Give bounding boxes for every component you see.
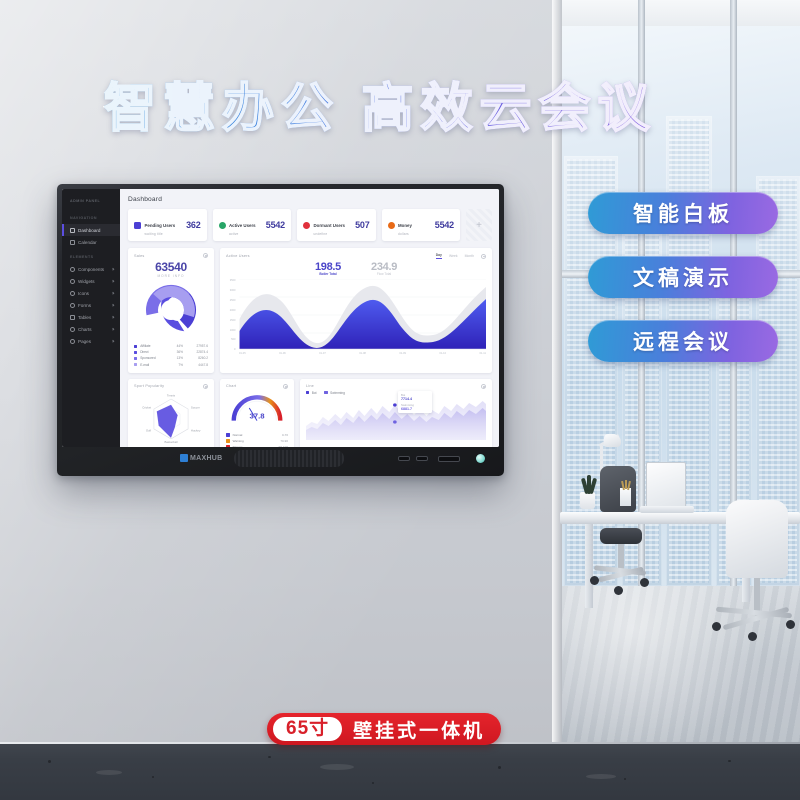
charts-row-secondary: Sport Popularity Tennis Soccer <box>128 379 492 447</box>
radar-chart: Tennis Soccer Hockey Basketball Golf Cri… <box>134 391 208 445</box>
kpi-value: 507 <box>355 220 369 230</box>
gear-icon[interactable] <box>481 254 486 259</box>
sidebar-item-label: Forms <box>78 303 91 308</box>
dashboard-heading: Dashboard <box>128 196 492 203</box>
sidebar: ADMIN PANEL NAVIGATION Dashboard Calenda… <box>62 189 120 447</box>
coin-icon <box>388 222 395 229</box>
sidebar-item-label: Dashboard <box>78 228 100 233</box>
home-icon <box>70 228 75 233</box>
area-chart: 3500300025002000 150010005000 <box>226 279 486 355</box>
sidebar-item-icons[interactable]: Icons <box>62 287 120 299</box>
kpi-subtitle: undefine <box>314 232 345 236</box>
legend-item: E-mail 7% 4447.8 <box>134 362 208 368</box>
add-widget-button[interactable]: + <box>466 209 492 241</box>
kpi-card-money[interactable]: Money dollars 5542 <box>382 209 461 241</box>
chair-caster <box>590 576 599 585</box>
chevron-right-icon <box>111 303 114 306</box>
feature-badge-presentation[interactable]: 文稿演示 <box>588 256 778 298</box>
kpi-card-active-users[interactable]: Active Users active 5542 <box>213 209 292 241</box>
components-icon <box>70 267 75 272</box>
chevron-right-icon <box>111 279 114 282</box>
gauge-value: 37.8 <box>249 411 265 420</box>
office-chair-post <box>618 544 624 570</box>
kpi-subtitle: active <box>229 232 256 236</box>
chevron-right-icon <box>111 315 114 318</box>
kpi-value: 5542 <box>435 220 454 230</box>
donut-chart <box>134 281 208 339</box>
usb-port <box>398 456 410 461</box>
sidebar-section-elements: ELEMENTS <box>62 248 120 263</box>
x-axis-ticks: 01-0501-0601-0701-08 01-0901-1001-11 <box>226 351 486 355</box>
widgets-icon <box>70 279 75 284</box>
feature-badge-remote-meeting[interactable]: 远程会议 <box>588 320 778 362</box>
concrete-floor <box>0 742 800 800</box>
gear-icon[interactable] <box>203 384 208 389</box>
usb-port <box>416 456 428 461</box>
svg-text:Basketball: Basketball <box>164 440 177 444</box>
sidebar-item-tables[interactable]: Tables <box>62 311 120 323</box>
svg-text:Soccer: Soccer <box>191 405 200 409</box>
kpi-card-pending-users[interactable]: Pending Users waiting title 362 <box>128 209 207 241</box>
donut-legend: Affiliate 44% 27957.6 Direct 36% 22874.4 <box>134 343 208 368</box>
sport-popularity-card: Sport Popularity Tennis Soccer <box>128 379 214 447</box>
kpi-subtitle: waiting title <box>145 232 176 236</box>
svg-text:Cricket: Cricket <box>142 405 151 409</box>
brand-logo: MAXHUB <box>180 454 223 462</box>
card-title: Chart <box>226 384 236 388</box>
cloud-icon <box>219 222 226 229</box>
kpi-title: Dormant Users <box>314 223 345 228</box>
kpi-title: Money <box>398 223 412 228</box>
dashboard-app: ADMIN PANEL NAVIGATION Dashboard Calenda… <box>62 189 499 447</box>
active-users-area-card: Active Users Day Week Month <box>220 248 492 373</box>
line-chart-card: Line Bot Swimming <box>300 379 492 447</box>
desk-lamp-head <box>604 434 621 447</box>
range-tabs: Day Week Month <box>436 253 474 259</box>
bookmark-icon <box>134 222 141 229</box>
sidebar-item-label: Charts <box>78 327 92 332</box>
gear-icon[interactable] <box>481 384 486 389</box>
tab-day[interactable]: Day <box>436 253 442 259</box>
kpi-value: 362 <box>186 220 200 230</box>
card-title: Active Users <box>226 254 250 258</box>
charts-icon <box>70 327 75 332</box>
office-chair-back <box>726 500 788 578</box>
sidebar-item-label: Components <box>78 267 104 272</box>
kpi-title: Active Users <box>229 223 256 228</box>
charts-row-primary: Sales 63540 MORE INFO <box>128 248 492 373</box>
tooltip-value-swimming: 6881.7 <box>401 407 429 411</box>
svg-text:Hockey: Hockey <box>191 428 201 432</box>
chair-caster <box>712 622 721 631</box>
svg-text:Tennis: Tennis <box>167 393 176 397</box>
line-chart <box>306 396 486 440</box>
line-legend: Bot Swimming <box>306 391 486 395</box>
laptop-base <box>640 506 694 513</box>
sales-total-value: 63540 <box>134 260 208 274</box>
screen-size-badge: 65寸 <box>273 717 342 742</box>
chevron-right-icon <box>111 267 114 270</box>
card-title: Sport Popularity <box>134 384 164 388</box>
feature-badges: 智能白板 文稿演示 远程会议 <box>588 192 778 384</box>
sidebar-item-pages[interactable]: Pages <box>62 335 120 347</box>
sidebar-section-navigation: NAVIGATION <box>62 209 120 224</box>
legend-item: Swimming <box>324 391 344 395</box>
sidebar-item-label: Tables <box>78 315 91 320</box>
tooltip-value-bot: 7714.4 <box>401 397 429 401</box>
sidebar-brand: ADMIN PANEL <box>62 196 120 209</box>
mount-type-label: 壁挂式一体机 <box>353 716 485 743</box>
office-chair-post <box>754 578 760 612</box>
gauge-card: Chart <box>220 379 294 447</box>
area-totals: 198.5 Boiler Total 234.9 Flow Total <box>226 261 486 276</box>
sidebar-item-forms[interactable]: Forms <box>62 299 120 311</box>
sidebar-item-calendar[interactable]: Calendar <box>62 236 120 248</box>
tables-icon <box>70 315 75 320</box>
forms-icon <box>70 303 75 308</box>
sidebar-item-label: Widgets <box>78 279 95 284</box>
sidebar-item-label: Icons <box>78 291 89 296</box>
legend-item: Bot <box>306 391 316 395</box>
logo-mark-icon <box>180 454 188 462</box>
laptop-screen <box>646 462 686 510</box>
kpi-title: Pending Users <box>145 223 176 228</box>
hdmi-port <box>438 456 460 462</box>
chair-caster <box>614 586 623 595</box>
sales-more-info-label: MORE INFO <box>134 274 208 278</box>
chevron-right-icon <box>111 291 114 294</box>
y-axis-ticks: 3500300025002000 150010005000 <box>226 279 237 351</box>
product-banner: 65寸 壁挂式一体机 <box>267 713 501 745</box>
office-chair-seat <box>600 528 642 544</box>
gauge-legend: Normal 0-70 Warning 70-90 <box>226 432 288 447</box>
gear-icon[interactable] <box>203 253 208 258</box>
card-title: Sales <box>134 254 145 258</box>
svg-text:Golf: Golf <box>146 428 151 432</box>
icons-icon <box>70 291 75 296</box>
sidebar-item-components[interactable]: Components <box>62 263 120 275</box>
speaker-grille <box>234 450 344 467</box>
heart-icon <box>303 222 310 229</box>
chair-caster <box>748 632 757 641</box>
dashboard-content: Dashboard Pending Users waiting title <box>120 189 499 447</box>
display-screen: ADMIN PANEL NAVIGATION Dashboard Calenda… <box>62 189 499 447</box>
tab-month[interactable]: Month <box>465 254 474 259</box>
gear-icon[interactable] <box>283 384 288 389</box>
display-bottom-bezel: MAXHUB <box>62 447 499 471</box>
chart-tooltip: Bot 7714.4 Swimming 6881.7 <box>398 391 432 414</box>
desk-plant-pot <box>580 492 595 509</box>
kpi-value: 5542 <box>266 220 285 230</box>
pencil-cup <box>620 488 631 506</box>
sidebar-item-label: Pages <box>78 339 91 344</box>
sidebar-item-dashboard[interactable]: Dashboard <box>62 224 120 236</box>
calendar-icon <box>70 240 75 245</box>
chevron-right-icon <box>111 339 114 342</box>
chair-caster <box>786 620 795 629</box>
desk-leg <box>585 524 593 608</box>
pages-icon <box>70 339 75 344</box>
kpi-subtitle: dollars <box>398 232 412 236</box>
tab-week[interactable]: Week <box>449 254 458 259</box>
kpi-card-dormant-users[interactable]: Dormant Users undefine 507 <box>297 209 376 241</box>
interactive-display: ADMIN PANEL NAVIGATION Dashboard Calenda… <box>57 184 504 476</box>
sidebar-item-label: Calendar <box>78 240 97 245</box>
chair-caster <box>640 578 649 587</box>
sidebar-item-charts[interactable]: Charts <box>62 323 120 335</box>
kpi-row: Pending Users waiting title 362 Active U… <box>128 209 492 241</box>
sidebar-item-widgets[interactable]: Widgets <box>62 275 120 287</box>
feature-badge-whiteboard[interactable]: 智能白板 <box>588 192 778 234</box>
power-indicator <box>476 454 485 463</box>
sales-donut-card: Sales 63540 MORE INFO <box>128 248 214 373</box>
gauge-chart: 37.8 <box>226 391 288 425</box>
page-title: 智慧办公 高效云会议 <box>104 66 656 141</box>
logo-text: MAXHUB <box>190 455 223 462</box>
card-title: Line <box>306 384 314 388</box>
poster-stage: 智慧办公 高效云会议 智能白板 文稿演示 远程会议 65寸 壁挂式一体机 ADM… <box>0 0 800 800</box>
chevron-right-icon <box>111 327 114 330</box>
